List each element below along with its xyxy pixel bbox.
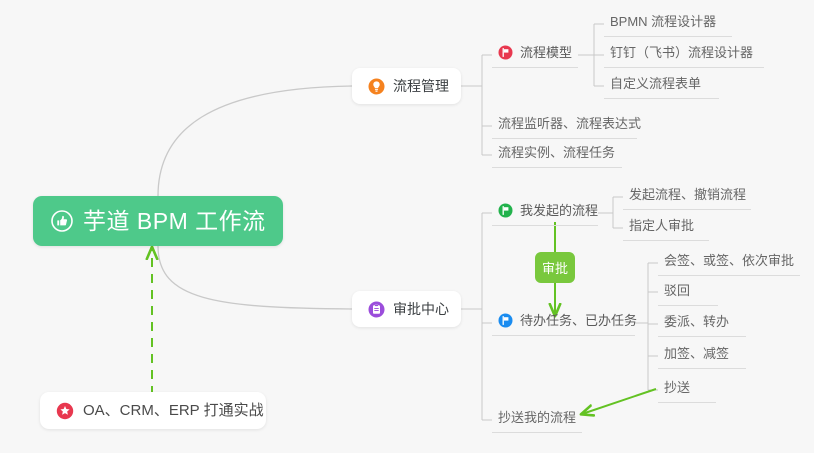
label-todo-done-tasks: 待办任务、已办任务 xyxy=(520,314,637,327)
node-process-instance-task[interactable]: 流程实例、流程任务 xyxy=(492,142,622,168)
flag-icon xyxy=(498,203,513,218)
label-assignee-approval: 指定人审批 xyxy=(629,219,694,232)
root-label: 芋道 BPM 工作流 xyxy=(83,210,266,233)
branch-process-management[interactable]: 流程管理 xyxy=(352,68,461,104)
mindmap-canvas: 芋道 BPM 工作流 流程管理 流程模型 BPMN 流程设计器 钉钉（飞 xyxy=(0,0,814,453)
node-cc[interactable]: 抄送 xyxy=(658,377,716,403)
root-node[interactable]: 芋道 BPM 工作流 xyxy=(33,196,283,246)
label-delegate-transfer: 委派、转办 xyxy=(664,315,729,328)
label-reject: 驳回 xyxy=(664,284,690,297)
tag-node-label: OA、CRM、ERP 打通实战 xyxy=(83,403,264,418)
node-countersign-orsign-sequential[interactable]: 会签、或签、依次审批 xyxy=(658,250,800,276)
node-cc-to-me-process[interactable]: 抄送我的流程 xyxy=(492,407,582,433)
node-todo-done-tasks[interactable]: 待办任务、已办任务 xyxy=(492,310,635,336)
thumbs-up-icon xyxy=(51,210,73,232)
label-custom-process-form: 自定义流程表单 xyxy=(610,77,701,90)
branch-label-process-management: 流程管理 xyxy=(393,79,449,93)
node-my-initiated-process[interactable]: 我发起的流程 xyxy=(492,200,598,226)
callout-approval: 审批 xyxy=(535,252,575,283)
node-delegate-transfer[interactable]: 委派、转办 xyxy=(658,311,746,337)
tag-node-oa-crm-erp[interactable]: OA、CRM、ERP 打通实战 xyxy=(40,392,266,429)
node-process-listener-expression[interactable]: 流程监听器、流程表达式 xyxy=(492,113,637,139)
label-cc: 抄送 xyxy=(664,381,690,394)
label-my-initiated-process: 我发起的流程 xyxy=(520,204,598,217)
node-bpmn-designer[interactable]: BPMN 流程设计器 xyxy=(604,11,732,37)
star-badge-icon xyxy=(56,402,74,420)
branch-label-approval-center: 审批中心 xyxy=(393,302,449,316)
label-dingtalk-feishu-designer: 钉钉（飞书）流程设计器 xyxy=(610,46,753,59)
lightbulb-icon xyxy=(368,78,385,95)
node-custom-process-form[interactable]: 自定义流程表单 xyxy=(604,73,719,99)
green-arrow-left xyxy=(582,389,656,414)
link-root-to-process-management xyxy=(158,86,352,196)
node-start-cancel-process[interactable]: 发起流程、撤销流程 xyxy=(623,184,751,210)
label-start-cancel-process: 发起流程、撤销流程 xyxy=(629,188,746,201)
label-bpmn-designer: BPMN 流程设计器 xyxy=(610,15,716,28)
node-assignee-approval[interactable]: 指定人审批 xyxy=(623,215,709,241)
callout-approval-label: 审批 xyxy=(542,258,568,277)
clipboard-icon xyxy=(368,301,385,318)
label-cc-to-me-process: 抄送我的流程 xyxy=(498,411,576,424)
flag-icon xyxy=(498,45,513,60)
link-root-to-approval-center xyxy=(158,246,352,309)
node-process-model[interactable]: 流程模型 xyxy=(492,42,578,68)
label-process-model: 流程模型 xyxy=(520,46,572,59)
flag-icon xyxy=(498,313,513,328)
label-countersign-orsign-sequential: 会签、或签、依次审批 xyxy=(664,254,794,267)
label-add-remove-sign: 加签、减签 xyxy=(664,347,729,360)
label-process-instance-task: 流程实例、流程任务 xyxy=(498,146,615,159)
node-reject[interactable]: 驳回 xyxy=(658,280,718,306)
node-add-remove-sign[interactable]: 加签、减签 xyxy=(658,343,746,369)
node-dingtalk-feishu-designer[interactable]: 钉钉（飞书）流程设计器 xyxy=(604,42,764,68)
branch-approval-center[interactable]: 审批中心 xyxy=(352,291,461,327)
label-process-listener-expression: 流程监听器、流程表达式 xyxy=(498,117,641,130)
